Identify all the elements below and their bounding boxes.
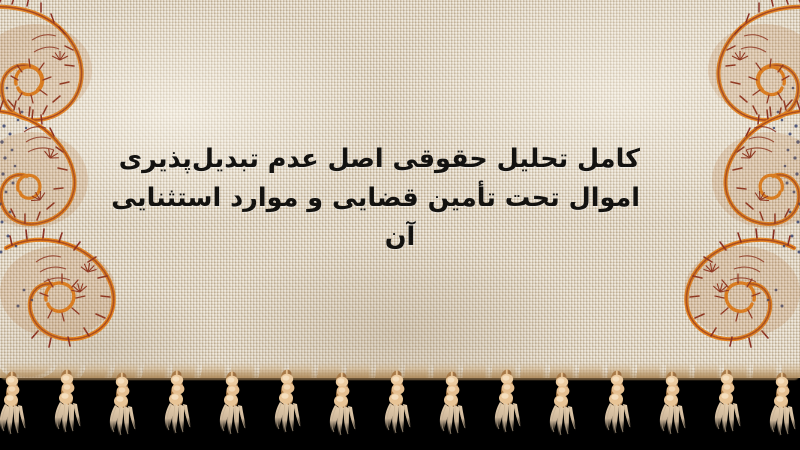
page-title: کامل تحلیل حقوقی اصل عدم تبدیل‌پذیری امو… xyxy=(0,140,800,257)
title-line-2: اموال تحت تأمین قضایی و موارد استثنایی xyxy=(160,179,640,218)
title-line-1: کامل تحلیل حقوقی اصل عدم تبدیل‌پذیری xyxy=(160,140,640,179)
title-card-canvas: کامل تحلیل حقوقی اصل عدم تبدیل‌پذیری امو… xyxy=(0,0,800,450)
fabric-edge-shadow xyxy=(0,370,800,380)
title-line-3: آن xyxy=(160,218,640,257)
black-backdrop xyxy=(0,374,800,450)
